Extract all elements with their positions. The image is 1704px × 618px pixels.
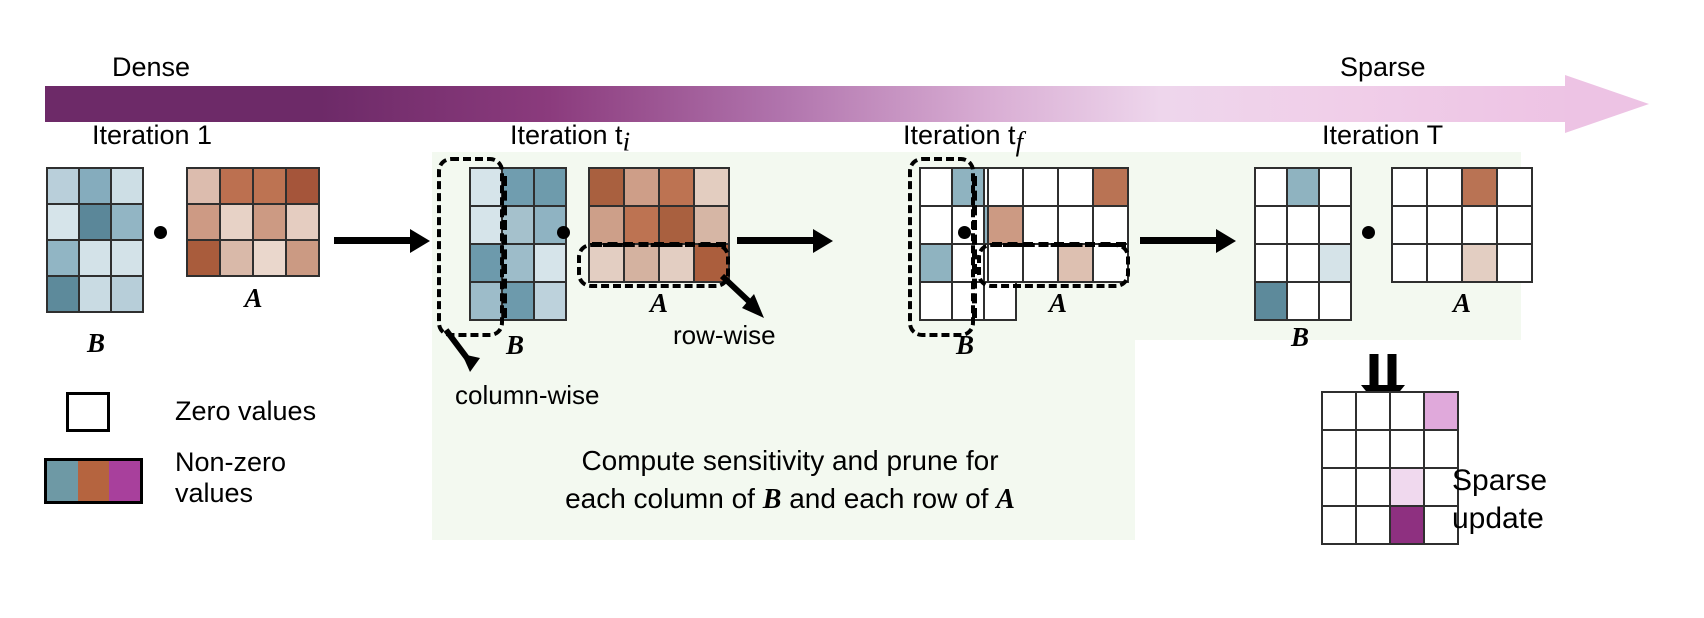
matrix-cell [78,239,112,277]
legend-nonzero-label: Non-zero values [175,447,286,509]
stage-label-iteration-tf: Iteration tf [903,120,1023,157]
matrix-cell [110,275,144,313]
matrix-cell [1022,167,1059,207]
matrix-cell [1286,281,1320,321]
matrix-cell [693,205,730,245]
panel-caption-B: B [763,484,782,515]
matrix-cell [1389,505,1425,545]
matrix-cell [1496,243,1533,283]
matrix-cell [533,281,567,321]
matrix-cell [110,167,144,205]
legend-nonzero-swatch [44,458,143,504]
matrix-cell [1254,205,1288,245]
column-wise-label: column-wise [455,380,600,411]
matrix-cell [46,275,80,313]
matrix-cell [588,167,625,207]
matrix-label-B-iterT: B [1251,322,1349,353]
matrix-cell [1321,467,1357,507]
dot-operator-4 [1362,226,1375,239]
matrix-cell [1355,467,1391,507]
legend-swatch-teal [47,461,78,501]
matrix-cell [1318,243,1352,283]
column-selection-bracket-ti [437,157,504,337]
dot-operator-1 [154,226,167,239]
matrix-cell [110,203,144,241]
density-gradient-arrow [45,86,1651,122]
dense-label: Dense [112,52,190,83]
matrix-cell [1355,505,1391,545]
matrix-cell [1461,167,1498,207]
matrix-cell [252,167,287,205]
matrix-cell [1286,205,1320,245]
matrix-cell [1254,243,1288,283]
legend-zero-swatch [66,392,110,432]
row-wise-pointer-arrow [718,272,778,324]
matrix-cell [1389,429,1425,469]
matrix-cell [285,203,320,241]
matrix-sparse-update [1322,392,1458,544]
matrix-cell [1057,167,1094,207]
legend-zero-label: Zero values [175,396,316,427]
matrix-cell [1321,391,1357,431]
matrix-cell [1391,243,1428,283]
matrix-cell [1057,205,1094,245]
matrix-cell [186,167,221,205]
panel-caption-A: A [996,484,1015,515]
matrix-cell [110,239,144,277]
matrix-cell [1318,167,1352,207]
panel-caption: Compute sensitivity and prune for each c… [520,442,1060,519]
matrix-cell [219,167,254,205]
legend-swatch-purple [109,461,140,501]
matrix-cell [1389,467,1425,507]
gradient-bar-body [45,86,1573,122]
matrix-cell [1022,205,1059,245]
matrix-cell [78,167,112,205]
stage-label-iteration-ti: Iteration ti [510,120,630,157]
column-wise-pointer-arrow [440,328,500,374]
matrix-cell [1355,391,1391,431]
matrix-cell [285,239,320,277]
matrix-cell [1318,205,1352,245]
matrix-iterT-B [1255,168,1351,320]
panel-caption-line1: Compute sensitivity and prune for [520,442,1060,480]
dot-operator-3 [958,226,971,239]
matrix-cell [1426,243,1463,283]
matrix-cell [219,239,254,277]
sparse-update-label-line1: Sparse [1452,462,1547,500]
matrix-cell [1426,205,1463,245]
matrix-cell [1461,205,1498,245]
matrix-cell [533,205,567,245]
matrix-cell [252,239,287,277]
stage-label-iteration-ti-sub: i [623,126,631,156]
stage-label-iteration-ti-text: Iteration t [510,120,623,150]
matrix-cell [186,239,221,277]
matrix-label-A-itertf: A [988,288,1128,319]
stage-label-iteration-tf-text: Iteration t [903,120,1016,150]
matrix-cell [1496,205,1533,245]
matrix-label-A-iter1: A [187,283,320,314]
matrix-cell [186,203,221,241]
matrix-label-A-iterti: A [589,288,729,319]
sparse-update-label-line2: update [1452,500,1547,538]
matrix-iter1-A [187,168,319,276]
gradient-arrow-head [1565,75,1649,133]
matrix-cell [987,205,1024,245]
matrix-iter1-B [47,168,143,312]
column-divider-dash-tf [972,176,977,318]
matrix-cell [1321,505,1357,545]
column-divider-dash-ti [502,176,507,318]
sparse-label: Sparse [1340,52,1426,83]
matrix-cell [1254,281,1288,321]
row-wise-label: row-wise [673,320,776,351]
matrix-cell [533,167,567,207]
matrix-cell [1254,167,1288,207]
matrix-cell [1461,243,1498,283]
stage-label-iteration-T: Iteration T [1322,120,1443,151]
matrix-cell [46,203,80,241]
matrix-cell [1389,391,1425,431]
matrix-label-B-itertf: B [916,330,1014,361]
matrix-cell [623,205,660,245]
matrix-cell [987,167,1024,207]
matrix-cell [1286,243,1320,283]
dot-operator-2 [557,226,570,239]
matrix-cell [219,203,254,241]
legend-nonzero-line1: Non-zero [175,447,286,478]
matrix-cell [1092,205,1129,245]
matrix-label-A-iterT: A [1392,288,1532,319]
matrix-cell [1286,167,1320,207]
matrix-cell [658,205,695,245]
column-selection-bracket-tf [908,157,975,337]
matrix-cell [1391,167,1428,207]
stage-label-iteration-tf-sub: f [1016,126,1024,156]
row-selection-bracket-ti [577,243,730,288]
matrix-cell [1321,429,1357,469]
matrix-cell [78,275,112,313]
matrix-cell [1496,167,1533,207]
panel-caption-mid: and each row of [781,483,996,514]
matrix-iterT-A [1392,168,1532,282]
panel-caption-pre: each column of [565,483,763,514]
matrix-cell [588,205,625,245]
matrix-cell [46,167,80,205]
legend-nonzero-line2: values [175,478,286,509]
matrix-cell [1423,391,1459,431]
matrix-cell [252,203,287,241]
matrix-cell [1426,167,1463,207]
matrix-cell [658,167,695,207]
matrix-label-B-iter1: B [47,328,145,359]
matrix-cell [1391,205,1428,245]
matrix-cell [46,239,80,277]
legend-swatch-brown [78,461,109,501]
stage-label-iteration-1: Iteration 1 [92,120,212,151]
matrix-cell [1318,281,1352,321]
matrix-cell [1355,429,1391,469]
matrix-cell [693,167,730,207]
matrix-cell [1092,167,1129,207]
row-divider-dash-ti [592,242,726,247]
row-selection-bracket-tf [977,243,1130,288]
diagram-canvas: Dense Sparse Iteration 1 Iteration ti It… [0,0,1704,618]
row-divider-dash-tf [992,242,1126,247]
sparse-update-label: Sparse update [1452,462,1547,537]
matrix-cell [285,167,320,205]
matrix-cell [78,203,112,241]
panel-caption-line2: each column of B and each row of A [520,480,1060,519]
matrix-cell [533,243,567,283]
matrix-cell [623,167,660,207]
